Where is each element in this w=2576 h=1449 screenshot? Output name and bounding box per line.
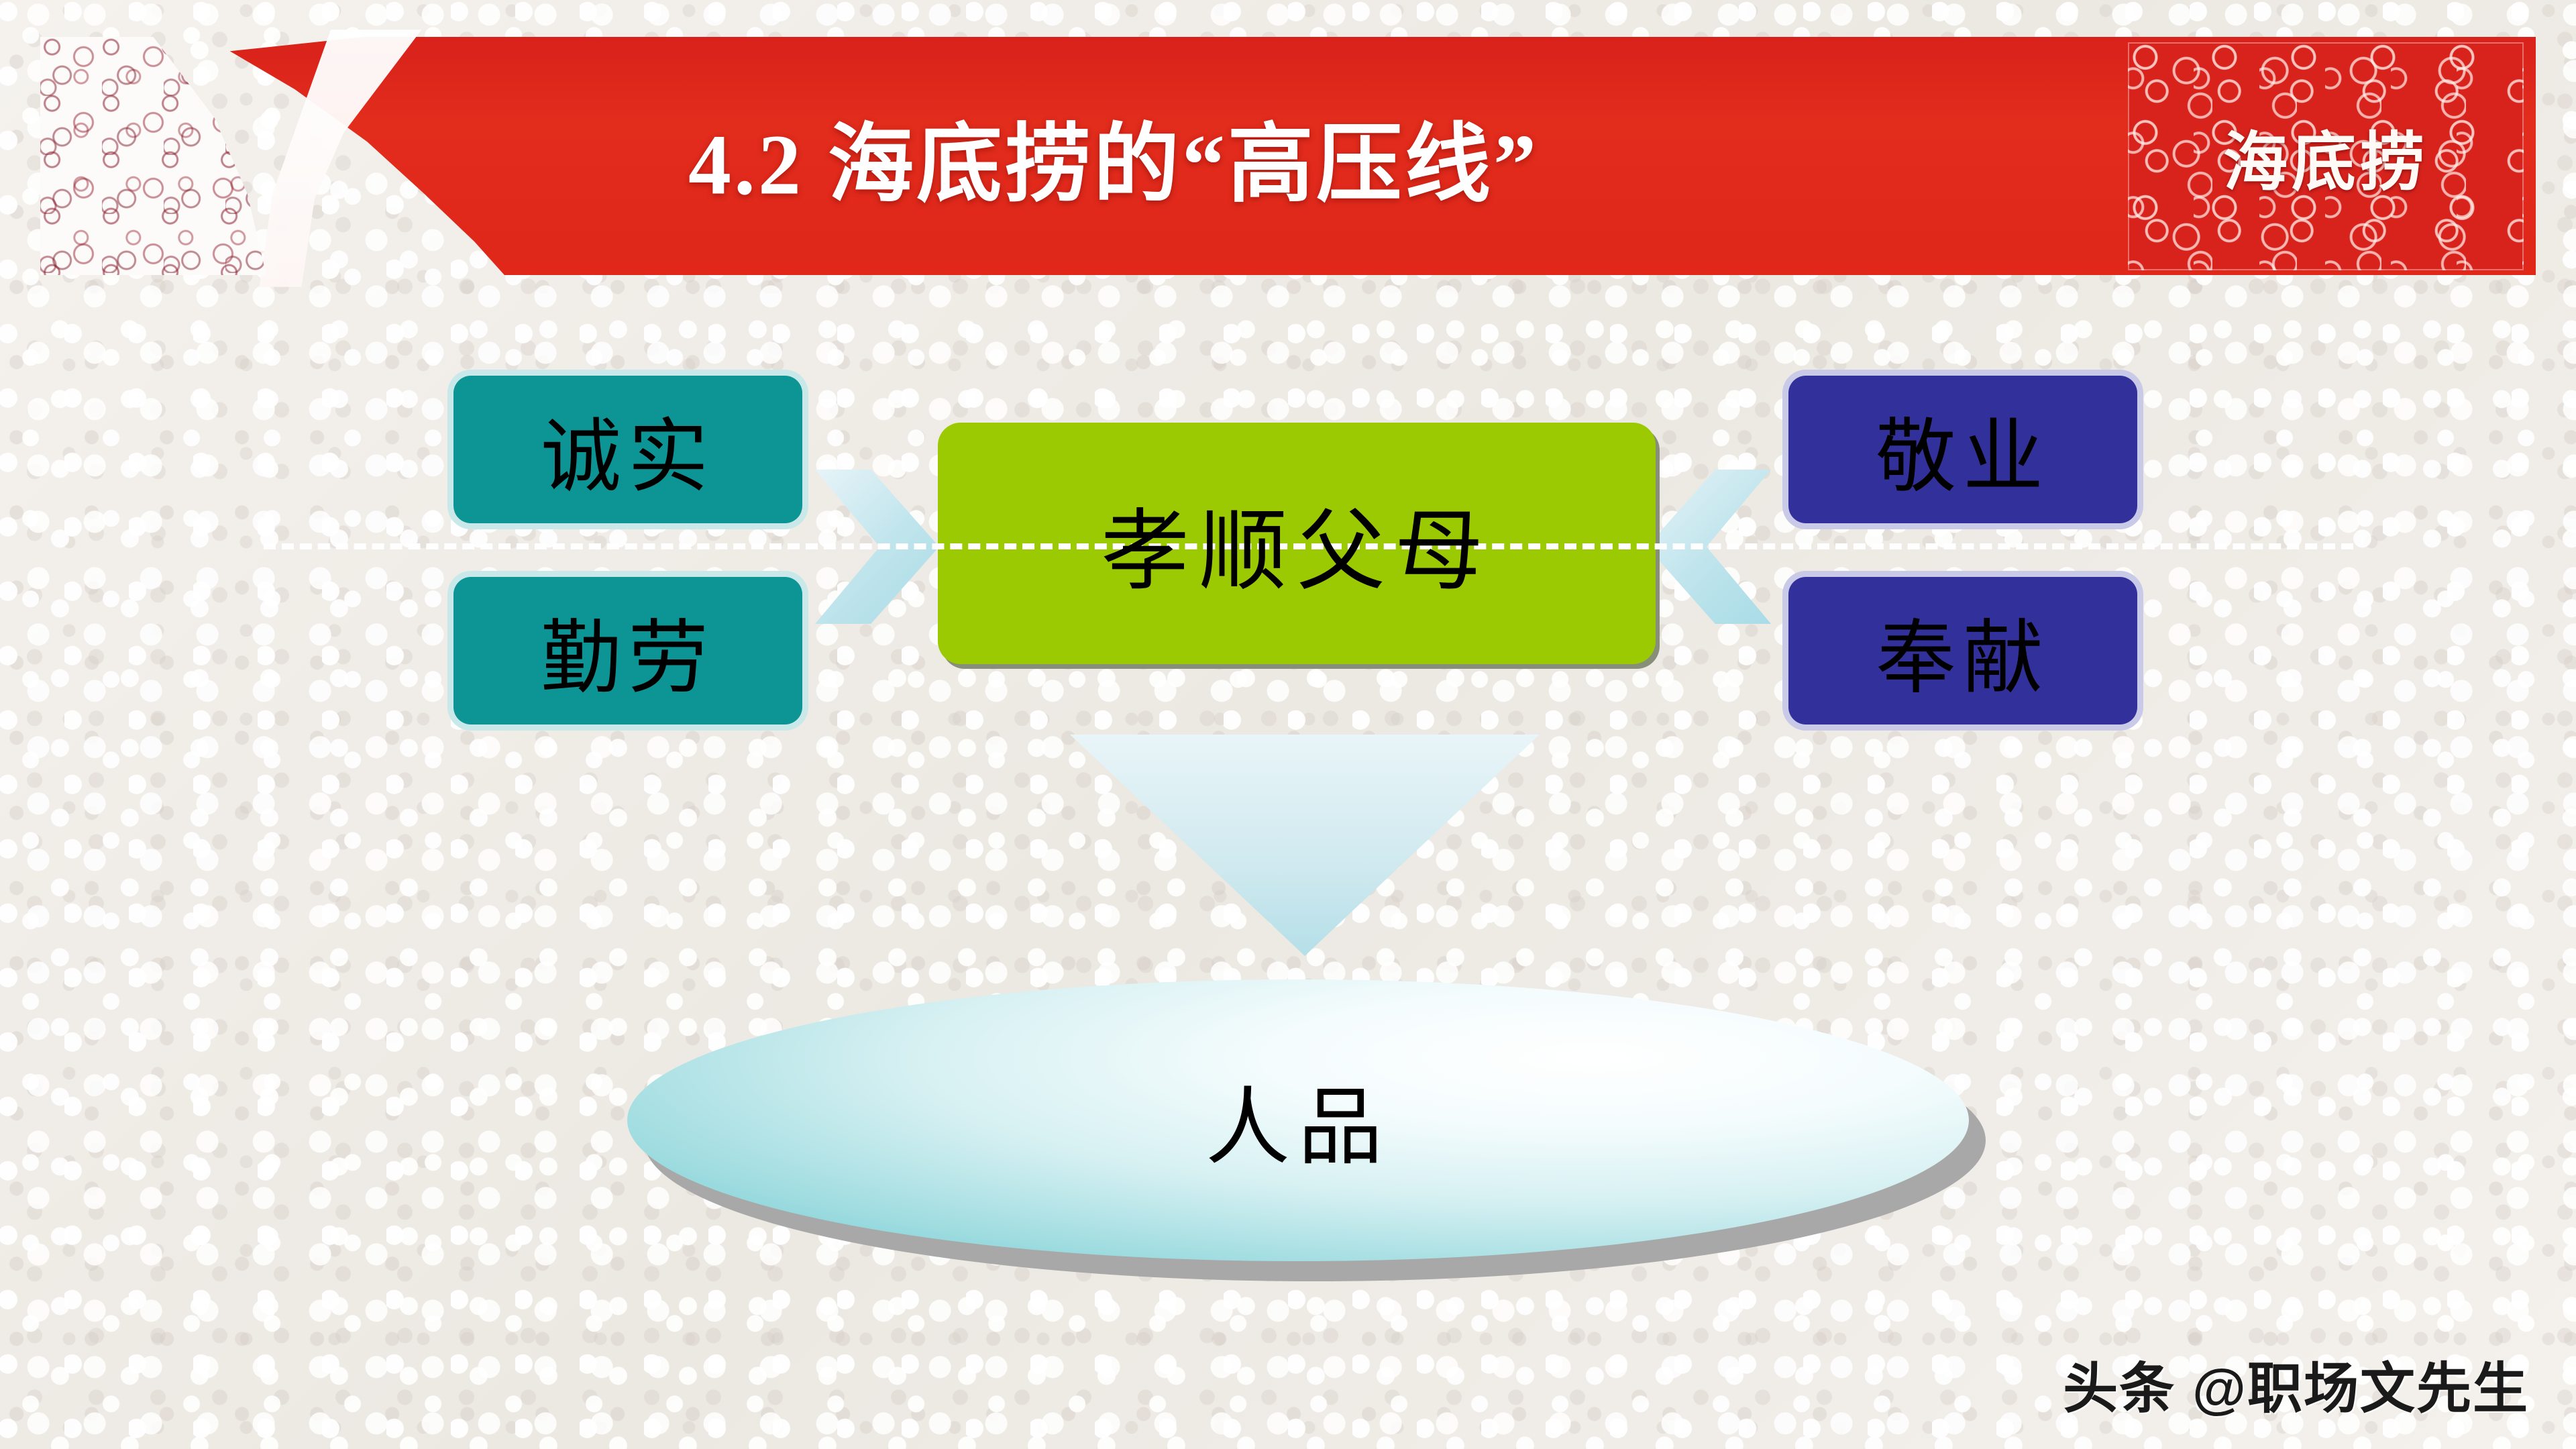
center-box-label: 孝顺父母 <box>1101 480 1493 608</box>
trait-box-dedication-label: 敬业 <box>1876 391 2050 508</box>
trait-box-diligent-label: 勤劳 <box>541 592 715 709</box>
slide-canvas: 4.2 海底捞的“高压线” 海底捞 诚实 勤劳 敬业 奉献 孝顺父母 人品 头条… <box>0 0 2576 1449</box>
result-ellipse-label: 人品 <box>627 979 1969 1261</box>
trait-box-honest[interactable]: 诚实 <box>453 376 802 523</box>
arrow-down-triangle-icon <box>1070 735 1540 956</box>
haidilao-logo: 海底捞 <box>2128 42 2524 270</box>
trait-box-contribution[interactable]: 奉献 <box>1788 577 2137 724</box>
trait-box-contribution-label: 奉献 <box>1876 592 2050 709</box>
watermark-credit: 头条 @职场文先生 <box>2063 1344 2529 1424</box>
trait-box-honest-label: 诚实 <box>541 391 715 508</box>
trait-box-dedication[interactable]: 敬业 <box>1788 376 2137 523</box>
trait-box-diligent[interactable]: 勤劳 <box>453 577 802 724</box>
center-box-filial-piety[interactable]: 孝顺父母 <box>938 423 1656 664</box>
result-ellipse-character[interactable]: 人品 <box>627 979 1969 1261</box>
header-banner: 4.2 海底捞的“高压线” 海底捞 <box>40 37 2536 275</box>
haidilao-logo-text: 海底捞 <box>2223 110 2428 203</box>
